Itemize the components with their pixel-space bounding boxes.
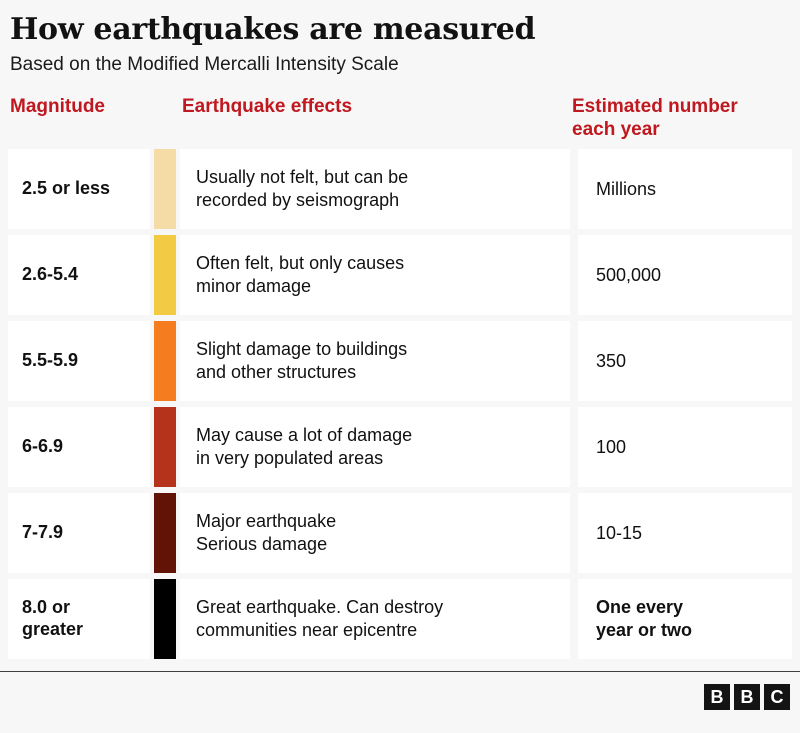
severity-color-swatch [154,149,176,229]
effects-cell: Major earthquake Serious damage [180,493,570,573]
effects-cell: Often felt, but only causes minor damage [180,235,570,315]
column-spacer [570,579,578,659]
effects-cell: Usually not felt, but can be recorded by… [180,149,570,229]
effects-cell: May cause a lot of damage in very popula… [180,407,570,487]
estimated-number-cell: 500,000 [578,235,792,315]
page-title: How earthquakes are measured [10,12,790,47]
bbc-logo-letter: B [704,684,730,710]
column-header-magnitude: Magnitude [10,95,182,118]
table-row: 5.5-5.9Slight damage to buildings and ot… [8,321,792,401]
page-subtitle: Based on the Modified Mercalli Intensity… [10,54,790,77]
severity-swatch-wrap [150,321,180,401]
magnitude-cell: 8.0 or greater [8,579,150,659]
bbc-logo-letter: B [734,684,760,710]
magnitude-table: 2.5 or lessUsually not felt, but can be … [0,149,800,659]
table-row: 8.0 or greaterGreat earthquake. Can dest… [8,579,792,659]
severity-swatch-wrap [150,579,180,659]
magnitude-cell: 6-6.9 [8,407,150,487]
estimated-number-cell: 10-15 [578,493,792,573]
table-row: 7-7.9Major earthquake Serious damage10-1… [8,493,792,573]
effects-cell: Slight damage to buildings and other str… [180,321,570,401]
estimated-number-cell: 100 [578,407,792,487]
column-spacer [570,407,578,487]
table-row: 2.6-5.4Often felt, but only causes minor… [8,235,792,315]
column-headers: Magnitude Earthquake effects Estimated n… [0,95,800,149]
column-spacer [570,493,578,573]
column-spacer [570,235,578,315]
column-header-estimated-number: Estimated number each year [572,95,790,141]
bbc-logo: BBC [704,684,790,710]
magnitude-cell: 2.5 or less [8,149,150,229]
severity-color-swatch [154,579,176,659]
title-block: How earthquakes are measured Based on th… [0,0,800,77]
magnitude-cell: 2.6-5.4 [8,235,150,315]
footer-divider [0,671,800,672]
column-spacer [570,149,578,229]
bbc-logo-letter: C [764,684,790,710]
column-header-effects: Earthquake effects [182,95,572,118]
effects-cell: Great earthquake. Can destroy communitie… [180,579,570,659]
severity-color-swatch [154,321,176,401]
severity-swatch-wrap [150,235,180,315]
severity-swatch-wrap [150,407,180,487]
footer: BBC [0,671,800,733]
severity-swatch-wrap [150,493,180,573]
earthquake-magnitude-infographic: How earthquakes are measured Based on th… [0,0,800,733]
magnitude-cell: 7-7.9 [8,493,150,573]
estimated-number-cell: Millions [578,149,792,229]
table-row: 6-6.9May cause a lot of damage in very p… [8,407,792,487]
severity-color-swatch [154,407,176,487]
severity-swatch-wrap [150,149,180,229]
magnitude-cell: 5.5-5.9 [8,321,150,401]
severity-color-swatch [154,235,176,315]
column-spacer [570,321,578,401]
severity-color-swatch [154,493,176,573]
table-row: 2.5 or lessUsually not felt, but can be … [8,149,792,229]
estimated-number-cell: 350 [578,321,792,401]
estimated-number-cell: One every year or two [578,579,792,659]
